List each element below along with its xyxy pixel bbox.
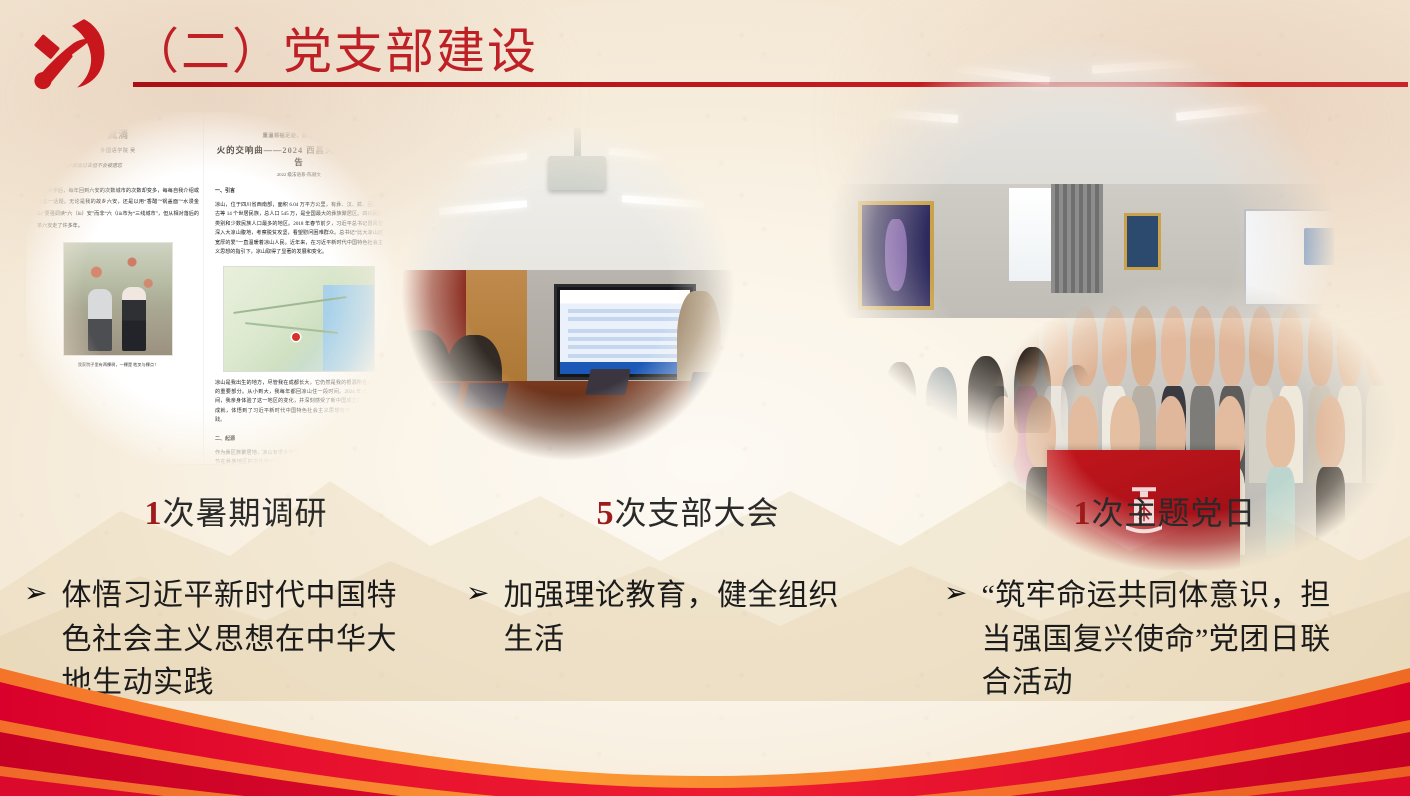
media-row: 流淌 外国语学院 吴 也许所有的日子都会过去但不会被遗忘 进入大学后，每年回到六…: [0, 104, 1410, 504]
column-heading-text: 次暑期调研: [162, 495, 327, 531]
document-page-report: 重温领袖足迹，感悟伟大成就 火的交响曲——2024 西昌火把节调研报告 2022…: [204, 112, 394, 464]
report-title: 火的交响曲——2024 西昌火把节调研报告: [215, 144, 383, 168]
essay-photo-caption: 我家院子里有两棵树，一棵是 枯叉与棵点！: [37, 361, 199, 369]
ceiling-projector-icon: [548, 156, 606, 190]
essay-title: 流淌: [37, 126, 199, 141]
column-heading: 1次暑期调研: [10, 488, 462, 534]
column-heading-text: 次支部大会: [614, 495, 779, 531]
column-heading: 1次主题党日: [930, 488, 1400, 534]
essay-body: 进入大学后，每年回到六安的次数城市的次数却变多，每每自我介绍或与这一话题。无论是…: [37, 186, 199, 234]
column-heading-text: 次主题党日: [1091, 495, 1256, 531]
column-count: 1: [1073, 495, 1091, 532]
report-section-2: 二、起源: [215, 435, 383, 442]
red-ribbon-footer-icon: [0, 616, 1410, 796]
document-page-essay: 流淌 外国语学院 吴 也许所有的日子都会过去但不会被遗忘 进入大学后，每年回到六…: [26, 112, 210, 464]
column-count: 1: [144, 495, 162, 532]
essay-byline: 外国语学院 吴: [37, 147, 199, 154]
column-count: 5: [596, 495, 614, 532]
branch-meeting-photo: [398, 118, 738, 464]
china-map-thumbnail-icon: [223, 266, 375, 372]
report-body-1: 凉山，位于四川省西南部，面积 6.04 万平方公里，有彝、汉、藏、回、蒙古等 1…: [215, 201, 383, 258]
wall-picture-icon: [1124, 213, 1161, 269]
slide-canvas: （二）党支部建设 流淌 外国语学院 吴 也许所有的日子都会过去但不会被遗忘 进入…: [0, 0, 1410, 796]
report-kicker: 重温领袖足迹，感悟伟大成就: [215, 132, 383, 139]
report-byline: 2022 级法语系-陈顺文: [215, 172, 383, 178]
document-pair: 流淌 外国语学院 吴 也许所有的日子都会过去但不会被遗忘 进入大学后，每年回到六…: [20, 112, 394, 468]
cpc-hammer-sickle-emblem-icon: [18, 14, 126, 96]
report-body-2: 凉山是我出生的地方，尽管我在成都长大，它仍然是我的根源所在，是我的重要部分。从小…: [215, 379, 383, 426]
projection-screen: [554, 284, 696, 380]
report-body-3: 作为彝区族聚居地，凉山有很多独特的文化，火把节就是其中之一。火把节在彝族地区的文…: [215, 449, 383, 464]
page-title: （二）党支部建设: [130, 12, 538, 83]
elderly-couple-photo-icon: [63, 242, 173, 356]
report-section-1: 一、引言: [215, 187, 383, 194]
column-heading: 5次支部大会: [452, 488, 924, 534]
essay-lead: 也许所有的日子都会过去但不会被遗忘: [37, 162, 199, 172]
